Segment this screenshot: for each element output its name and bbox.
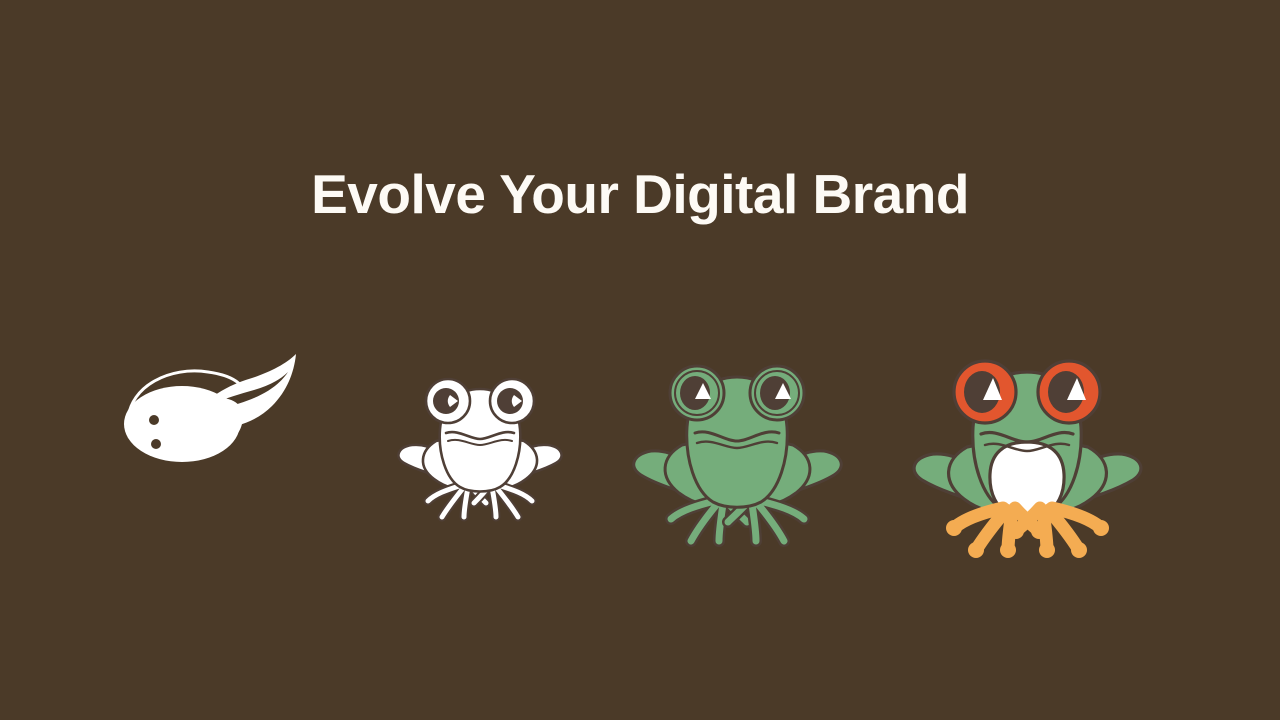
juvenile-frog-illustration <box>625 355 850 550</box>
tadpole-eye-dot <box>149 415 159 425</box>
page-title: Evolve Your Digital Brand <box>0 160 1280 228</box>
frog-lifecycle-row <box>0 300 1280 560</box>
adult-frog-illustration <box>905 350 1150 560</box>
lifecycle-stage-froglet[interactable] <box>390 367 570 522</box>
lifecycle-stage-tadpole[interactable] <box>120 348 310 478</box>
tadpole-illustration <box>120 348 310 478</box>
slide-canvas: Evolve Your Digital Brand <box>0 0 1280 720</box>
lifecycle-stage-juvenile-frog[interactable] <box>625 355 850 550</box>
tadpole-nostril-dot <box>151 439 161 449</box>
froglet-illustration <box>390 367 570 522</box>
lifecycle-stage-adult-frog[interactable] <box>905 350 1150 560</box>
